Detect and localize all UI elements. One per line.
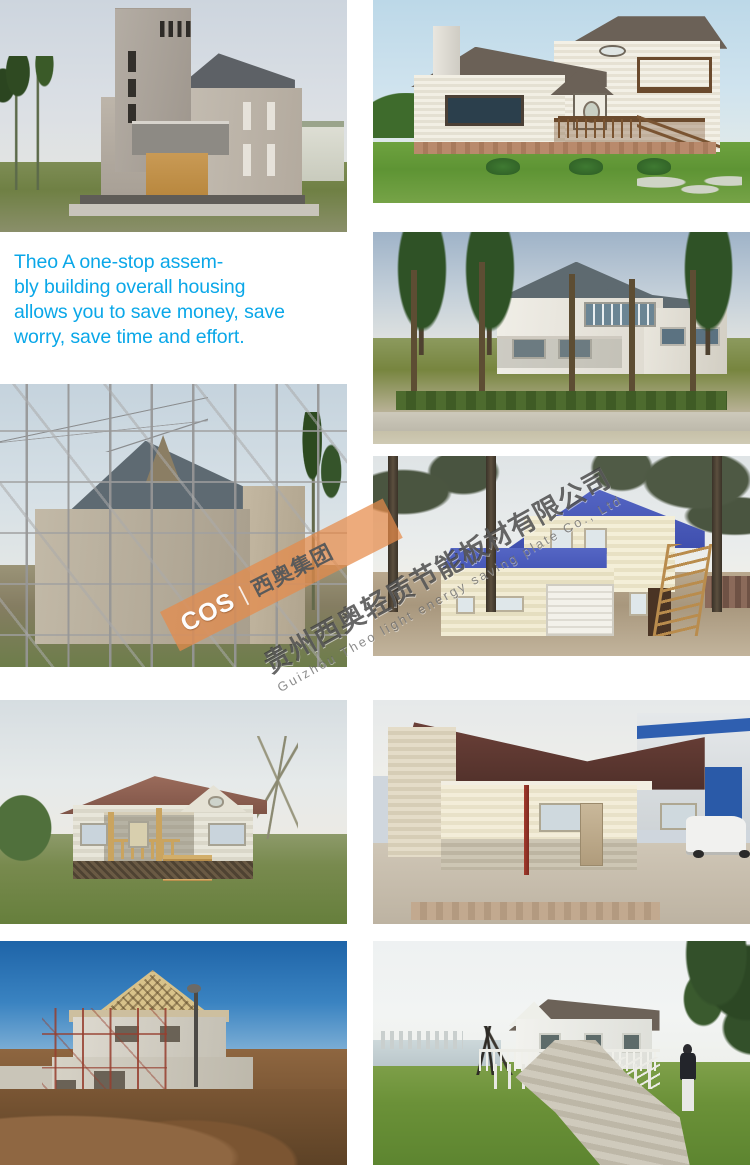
paved-apron: [69, 204, 319, 216]
palm-trees: [0, 56, 76, 191]
round-window: [208, 796, 224, 807]
window: [539, 803, 584, 832]
tree: [456, 232, 524, 355]
gallery-photo-construction-site[interactable]: [0, 941, 347, 1165]
bush: [486, 158, 520, 174]
tree-trunk: [629, 279, 635, 393]
lattice-skirting: [73, 861, 253, 879]
window: [629, 592, 648, 616]
tree-trunk: [479, 262, 485, 398]
wall-slit: [267, 102, 275, 130]
deck-railing: [558, 116, 641, 138]
photo-6-scene: [0, 700, 347, 924]
upper-glazing: [584, 302, 656, 327]
gallery-photo-cottage[interactable]: [0, 700, 347, 924]
flood-lamp: [187, 984, 201, 993]
stone-skirting: [414, 142, 716, 154]
oval-window: [599, 45, 625, 57]
tower-slit: [128, 79, 136, 98]
window: [208, 823, 246, 845]
person-trousers: [682, 1079, 694, 1111]
tree-trunk: [569, 274, 575, 393]
person-jacket: [680, 1053, 696, 1080]
gallery-photo-scaffolded-villa[interactable]: [0, 384, 347, 667]
soil-mound: [0, 1089, 347, 1165]
gallery-photo-blue-roof-house[interactable]: [373, 456, 750, 656]
balcony: [132, 121, 229, 156]
window: [80, 823, 108, 845]
red-column: [524, 785, 529, 875]
photo-1-scene: [0, 0, 347, 232]
gallery-photo-modern-villa[interactable]: [0, 0, 347, 232]
tree: [675, 232, 743, 355]
product-image-gallery: Theo A one-stop assem- bly building over…: [0, 0, 750, 1173]
bush: [569, 158, 603, 174]
photo-2-scene: [373, 0, 750, 203]
gallery-photo-deck-house[interactable]: [373, 0, 750, 203]
gallery-photo-long-house[interactable]: [373, 700, 750, 924]
picture-window: [445, 95, 524, 125]
wall-wainscot: [441, 839, 637, 870]
background-trees: [0, 790, 56, 866]
photo-3-scene: [373, 232, 750, 444]
light-pole: [194, 988, 198, 1087]
gallery-photo-white-villa[interactable]: [373, 232, 750, 444]
stepping-stones: [637, 175, 743, 199]
marketing-blurb: Theo A one-stop assem- bly building over…: [14, 250, 344, 350]
white-van: [686, 816, 746, 854]
scaffolding-braces: [0, 384, 347, 667]
pavement: [373, 412, 750, 431]
gallery-photo-elevated-cabin[interactable]: [373, 941, 750, 1165]
wall-slit: [243, 102, 251, 130]
tower-louvres: [160, 21, 191, 37]
pine-trunk: [712, 456, 722, 612]
bush: [637, 158, 671, 174]
front-door: [128, 821, 149, 848]
photo-5-scene: [0, 384, 347, 667]
tower-slit: [128, 51, 136, 72]
tree: [388, 232, 456, 355]
pine-trunk: [486, 456, 496, 612]
photo-8-scene: [0, 941, 347, 1165]
person-walking: [678, 1044, 697, 1111]
entry-door: [580, 803, 603, 866]
upper-balcony: [637, 57, 712, 94]
tree-trunk: [690, 270, 696, 393]
photo-9-scene: [373, 941, 750, 1165]
hedge: [396, 391, 728, 410]
photo-4-scene: [373, 456, 750, 656]
wall-slit: [267, 144, 275, 176]
bare-tree: [257, 736, 299, 839]
pine-trunk: [388, 456, 398, 612]
wall-slit: [243, 144, 251, 176]
photo-7-scene: [373, 700, 750, 924]
entry-door: [146, 153, 208, 195]
brick-apron: [411, 902, 660, 920]
window: [456, 596, 475, 614]
tree-trunk: [411, 270, 417, 397]
garage-door: [546, 584, 614, 636]
